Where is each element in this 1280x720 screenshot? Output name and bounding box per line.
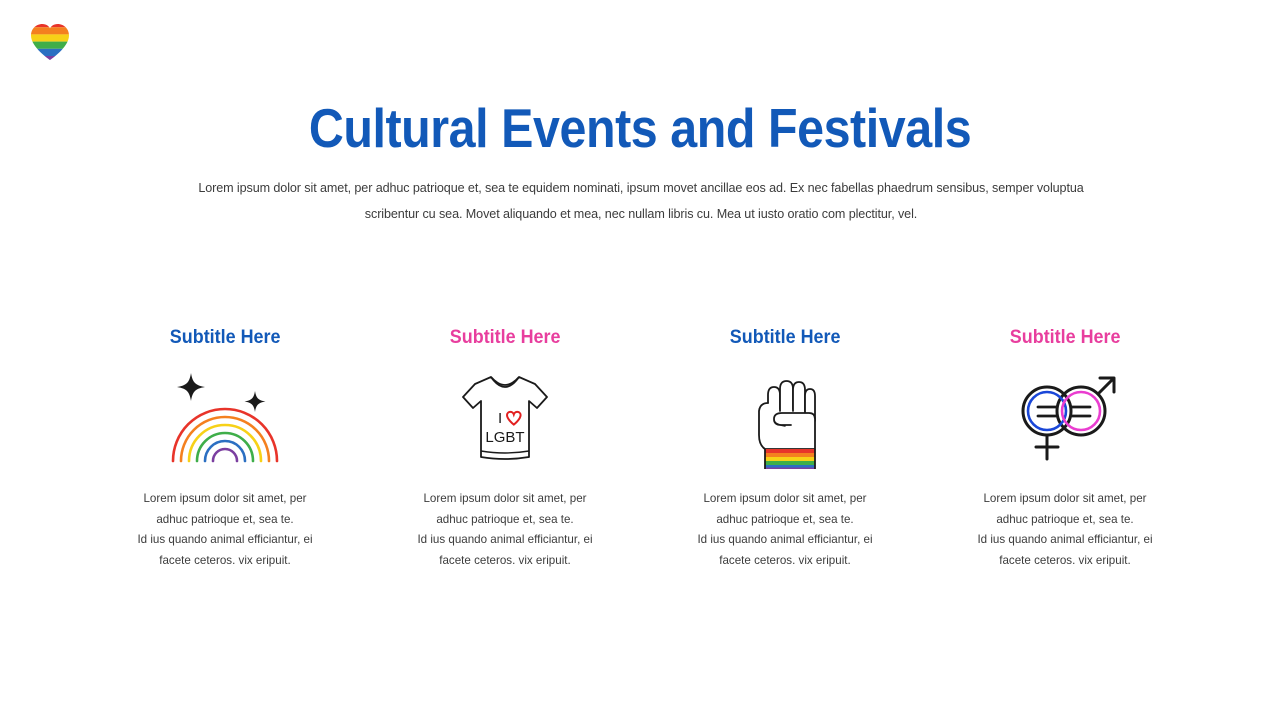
intro-paragraph: Lorem ipsum dolor sit amet, per adhuc pa… bbox=[185, 175, 1097, 227]
column-1-subtitle: Subtitle Here bbox=[170, 325, 281, 349]
column-3-icon-wrap bbox=[747, 365, 823, 473]
column-4-body-line-1: Lorem ipsum dolor sit amet, per bbox=[940, 489, 1190, 510]
male-inner-ring bbox=[1062, 392, 1100, 430]
feature-column-4: Subtitle Here bbox=[919, 325, 1211, 571]
column-3-body: Lorem ipsum dolor sit amet, per adhuc pa… bbox=[660, 489, 910, 571]
column-3-body-line-3: Id ius quando animal efficiantur, ei bbox=[660, 530, 910, 551]
column-2-body-line-4: facete ceteros. vix eripuit. bbox=[380, 551, 630, 572]
tshirt-text-lgbt: LGBT bbox=[485, 429, 524, 446]
tshirt-text-i: I bbox=[498, 410, 502, 427]
column-3-body-line-2: adhuc patrioque et, sea te. bbox=[660, 510, 910, 531]
column-2-body-line-3: Id ius quando animal efficiantur, ei bbox=[380, 530, 630, 551]
equals-signs bbox=[1038, 407, 1090, 416]
rainbow-heart-icon bbox=[28, 20, 72, 64]
column-4-subtitle: Subtitle Here bbox=[1010, 325, 1121, 349]
column-2-body: Lorem ipsum dolor sit amet, per adhuc pa… bbox=[380, 489, 630, 571]
feature-columns: Subtitle Here Lorem ipsum dolor sit amet… bbox=[0, 325, 1280, 571]
gender-equality-symbols-icon bbox=[1011, 369, 1119, 469]
feature-column-2: Subtitle Here I LGBT Lorem ipsum dolor s… bbox=[359, 325, 651, 571]
sparkle-small-icon bbox=[245, 391, 266, 412]
column-4-body-line-3: Id ius quando animal efficiantur, ei bbox=[940, 530, 1190, 551]
column-4-body: Lorem ipsum dolor sit amet, per adhuc pa… bbox=[940, 489, 1190, 571]
column-4-body-line-2: adhuc patrioque et, sea te. bbox=[940, 510, 1190, 531]
sparkle-large-icon bbox=[177, 373, 205, 401]
column-1-body-line-1: Lorem ipsum dolor sit amet, per bbox=[100, 489, 350, 510]
lgbt-tshirt-icon: I LGBT bbox=[457, 369, 553, 469]
column-3-body-line-1: Lorem ipsum dolor sit amet, per bbox=[660, 489, 910, 510]
column-2-icon-wrap: I LGBT bbox=[457, 365, 553, 473]
column-1-body-line-3: Id ius quando animal efficiantur, ei bbox=[100, 530, 350, 551]
column-4-icon-wrap bbox=[1011, 365, 1119, 473]
female-inner-ring bbox=[1028, 392, 1066, 430]
column-2-body-line-1: Lorem ipsum dolor sit amet, per bbox=[380, 489, 630, 510]
column-1-body: Lorem ipsum dolor sit amet, per adhuc pa… bbox=[100, 489, 350, 571]
feature-column-1: Subtitle Here Lorem ipsum dolor sit amet… bbox=[79, 325, 371, 571]
column-3-body-line-4: facete ceteros. vix eripuit. bbox=[660, 551, 910, 572]
column-3-subtitle: Subtitle Here bbox=[730, 325, 841, 349]
rainbow-heart-logo bbox=[28, 20, 72, 64]
page-title: Cultural Events and Festivals bbox=[77, 96, 1203, 160]
column-2-subtitle: Subtitle Here bbox=[450, 325, 561, 349]
column-4-body-line-4: facete ceteros. vix eripuit. bbox=[940, 551, 1190, 572]
column-1-icon-wrap bbox=[165, 365, 285, 473]
column-1-body-line-2: adhuc patrioque et, sea te. bbox=[100, 510, 350, 531]
column-1-body-line-4: facete ceteros. vix eripuit. bbox=[100, 551, 350, 572]
feature-column-3: Subtitle Here bbox=[639, 325, 931, 571]
fist-rainbow-cuff bbox=[765, 449, 815, 469]
rainbow-sparkles-icon bbox=[165, 369, 285, 469]
column-2-body-line-2: adhuc patrioque et, sea te. bbox=[380, 510, 630, 531]
raised-fist-rainbow-icon bbox=[747, 369, 823, 469]
